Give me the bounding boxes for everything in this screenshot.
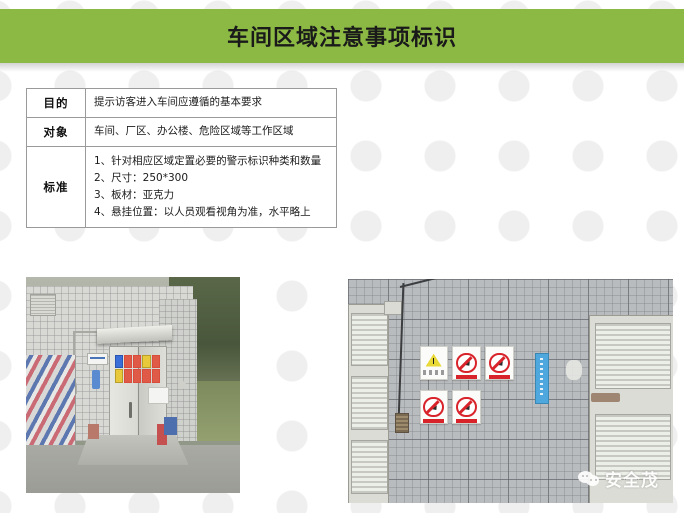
list-item: 1、针对相应区域定置必要的警示标识种类和数量	[94, 153, 328, 170]
table-row-label-purpose: 目的	[27, 89, 86, 118]
table-row-label-standard: 标准	[27, 147, 86, 228]
photo-wall-signage: 安全茂	[348, 279, 673, 503]
sign-caption-bar	[456, 419, 476, 423]
louver-panel	[351, 440, 387, 494]
rust-stain	[591, 393, 620, 402]
wall-junction-box	[384, 301, 402, 314]
blue-vertical-sign	[535, 353, 549, 404]
wechat-dot	[595, 479, 597, 481]
list-item: 2、尺寸：250*300	[94, 170, 328, 187]
safety-sign	[152, 355, 160, 369]
table-row-value-standard: 1、针对相应区域定置必要的警示标识种类和数量 2、尺寸：250*300 3、板材…	[86, 147, 337, 228]
louver-panel	[351, 376, 387, 430]
prohibition-glyph	[462, 358, 471, 367]
wechat-dot	[582, 475, 584, 477]
photo-left-scene	[26, 277, 240, 493]
door-notice-sign	[148, 387, 169, 404]
door-handle	[129, 402, 132, 418]
prohibition-sign-1	[452, 346, 480, 380]
louver-panel	[595, 323, 671, 389]
safety-sign	[124, 355, 132, 369]
access-ramp	[77, 435, 188, 465]
no-smoking-icon	[489, 353, 509, 373]
wall-vent	[30, 294, 56, 315]
prohibition-sign-2	[485, 346, 513, 380]
louvered-door-left	[348, 304, 389, 503]
sign-caption-bar	[489, 375, 509, 379]
no-phone-icon	[456, 397, 476, 417]
cable-weight-box	[395, 413, 408, 433]
no-fire-icon	[423, 397, 443, 417]
table-row-value-purpose: 提示访客进入车间应遵循的基本要求	[86, 89, 337, 118]
safety-sign	[133, 355, 141, 369]
safety-sign	[133, 369, 141, 383]
safety-sign	[115, 369, 123, 383]
list-item: 3、板材：亚克力	[94, 187, 328, 204]
watermark: 安全茂	[578, 466, 659, 491]
table-row-label-object: 对象	[27, 118, 86, 147]
safety-sign	[124, 369, 132, 383]
prohibition-glyph	[462, 403, 471, 412]
page-title: 车间区域注意事项标识	[227, 20, 457, 52]
no-entry-icon	[456, 353, 476, 373]
safety-sign	[152, 369, 160, 383]
safety-sign	[142, 355, 150, 369]
watermark-text: 安全茂	[605, 466, 659, 491]
wall-name-plate	[87, 353, 108, 366]
table-row: 目的 提示访客进入车间应遵循的基本要求	[27, 89, 337, 118]
sign-caption-bar	[423, 419, 443, 423]
table-row: 标准 1、针对相应区域定置必要的警示标识种类和数量 2、尺寸：250*300 3…	[27, 147, 337, 228]
photo-workshop-entrance	[26, 277, 240, 493]
sign-caption-bar	[456, 375, 476, 379]
prohibition-glyph	[495, 358, 504, 367]
prohibition-sign-4	[452, 390, 480, 424]
banner-shadow	[0, 63, 684, 72]
wall-patch	[566, 360, 582, 380]
prohibition-glyph	[429, 403, 438, 412]
info-table: 目的 提示访客进入车间应遵循的基本要求 对象 车间、厂区、办公楼、危险区域等工作…	[26, 88, 337, 228]
flower-pot	[88, 424, 99, 439]
safety-sign-board	[115, 355, 160, 383]
table-row-value-object: 车间、厂区、办公楼、危险区域等工作区域	[86, 118, 337, 147]
safety-sign	[142, 369, 150, 383]
standard-list: 1、针对相应区域定置必要的警示标识种类和数量 2、尺寸：250*300 3、板材…	[94, 153, 328, 221]
sign-caption-text	[423, 370, 444, 375]
louver-panel	[351, 313, 387, 367]
prohibition-sign-3	[420, 390, 448, 424]
slide-canvas: 车间区域注意事项标识 目的 提示访客进入车间应遵循的基本要求 对象 车间、厂区、…	[0, 0, 684, 513]
wall-blue-strip-sign	[92, 370, 99, 389]
list-item: 4、悬挂位置：以人员观看视角为准，水平略上	[94, 204, 328, 221]
warning-sign-caution	[420, 346, 448, 380]
warning-triangle-icon	[425, 353, 442, 368]
safety-sign	[115, 355, 123, 369]
table-row: 对象 车间、厂区、办公楼、危险区域等工作区域	[27, 118, 337, 147]
wechat-icon	[578, 468, 600, 490]
wechat-dot	[586, 475, 588, 477]
safety-sign-group	[420, 346, 514, 431]
header-banner: 车间区域注意事项标识	[0, 9, 684, 63]
striped-tarpaulin	[26, 355, 76, 450]
blue-trash-bin	[164, 417, 177, 434]
